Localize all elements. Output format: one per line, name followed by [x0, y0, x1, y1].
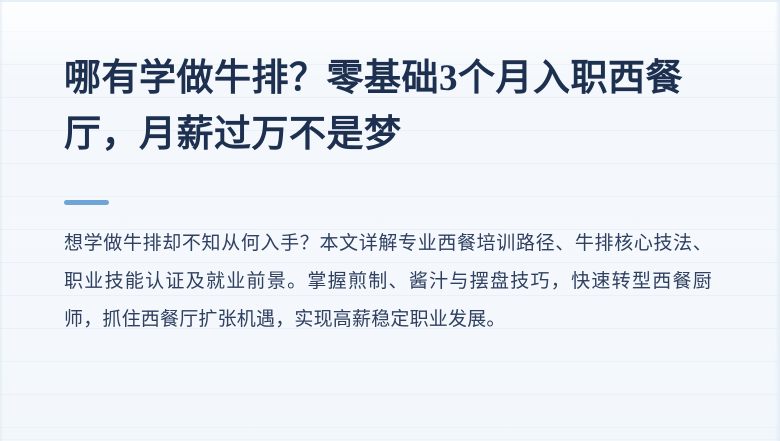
- article-title: 哪有学做牛排？零基础3个月入职西餐厅，月薪过万不是梦: [64, 51, 724, 163]
- article-content: 哪有学做牛排？零基础3个月入职西餐厅，月薪过万不是梦 想学做牛排却不知从何入手？…: [64, 0, 724, 441]
- article-summary: 想学做牛排却不知从何入手？本文详解专业西餐培训路径、牛排核心技法、职业技能认证及…: [64, 225, 712, 339]
- card-left-edge: [0, 0, 3, 441]
- card-right-edge: [775, 0, 780, 441]
- title-accent-bar: [64, 200, 109, 205]
- article-card: 哪有学做牛排？零基础3个月入职西餐厅，月薪过万不是梦 想学做牛排却不知从何入手？…: [0, 0, 780, 441]
